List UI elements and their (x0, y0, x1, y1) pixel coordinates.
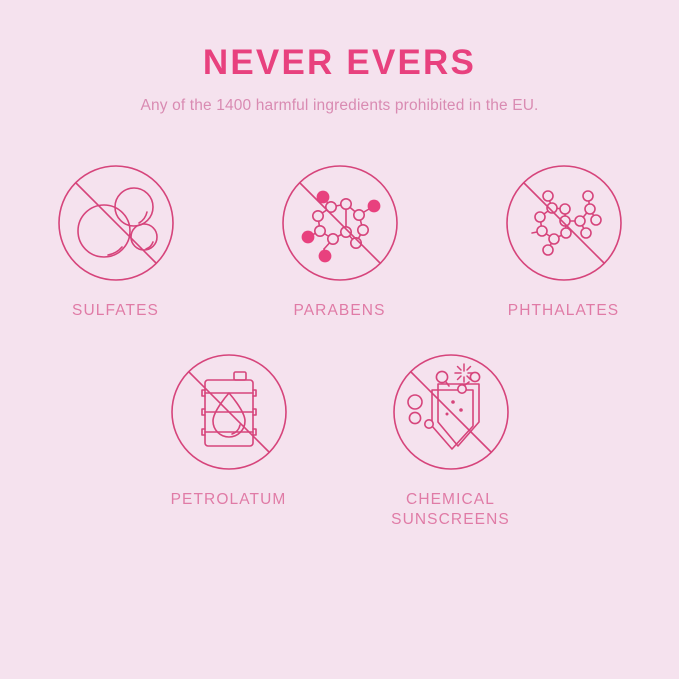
never-evers-infographic: NEVER EVERS Any of the 1400 harmful ingr… (0, 0, 679, 679)
page-subtitle: Any of the 1400 harmful ingredients proh… (0, 96, 679, 116)
grid-row-1: SULFATES (0, 163, 679, 322)
grid-item-label-petrolatum: PETROLATUM (171, 490, 287, 511)
grid-item-chemical-sunscreens: CHEMICAL SUNSCREENS (376, 352, 526, 532)
no-phthalates-molecule-icon (504, 163, 624, 283)
grid-item-phthalates: PHTHALATES (489, 163, 639, 322)
grid-item-label-chemical-sunscreens: CHEMICAL SUNSCREENS (391, 490, 510, 532)
grid-item-label-parabens: PARABENS (293, 301, 385, 322)
grid-item-sulfates: SULFATES (41, 163, 191, 322)
grid-item-petrolatum: PETROLATUM (154, 352, 304, 532)
no-parabens-molecule-icon (280, 163, 400, 283)
no-chemical-sunscreen-shield-icon (391, 352, 511, 472)
grid-item-label-sulfates: SULFATES (72, 301, 159, 322)
page-title: NEVER EVERS (0, 44, 679, 83)
no-petrolatum-oil-drum-icon (169, 352, 289, 472)
grid-row-2: PETROLATUM (0, 352, 679, 532)
ingredient-grid: SULFATES (0, 163, 679, 532)
no-sulfates-bubbles-icon (56, 163, 176, 283)
grid-item-label-phthalates: PHTHALATES (508, 301, 620, 322)
header: NEVER EVERS Any of the 1400 harmful ingr… (0, 0, 679, 116)
grid-item-parabens: PARABENS (265, 163, 415, 322)
